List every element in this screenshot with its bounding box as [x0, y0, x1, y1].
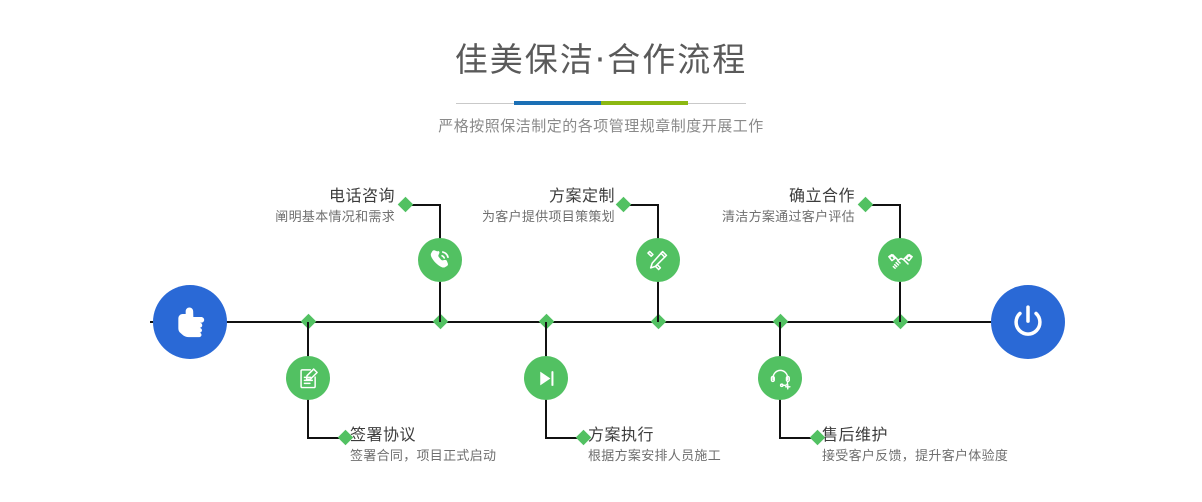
- step-2-icon-node[interactable]: [286, 356, 330, 400]
- flow-start-node[interactable]: [153, 285, 227, 359]
- page-title: 佳美保洁·合作流程: [0, 40, 1202, 80]
- step-3-icon-node[interactable]: [636, 238, 680, 282]
- timeline-axis: [150, 321, 1056, 323]
- step-5-label: 确立合作 清洁方案通过客户评估: [580, 186, 855, 227]
- handshake-icon: [887, 247, 914, 274]
- step-5-icon-node[interactable]: [878, 238, 922, 282]
- divider-segment-green: [601, 101, 688, 105]
- headset-support-icon: [768, 366, 793, 391]
- power-icon: [1007, 301, 1049, 343]
- step-4-icon-node[interactable]: [524, 356, 568, 400]
- step-5-desc: 清洁方案通过客户评估: [580, 209, 855, 227]
- step-3-title: 方案定制: [340, 186, 615, 206]
- pointing-hand-icon: [170, 302, 210, 342]
- cooperation-flow-infographic: 佳美保洁·合作流程 严格按照保洁制定的各项管理规章制度开展工作: [0, 0, 1202, 502]
- divider-segment-blue: [514, 101, 601, 105]
- flow-end-node[interactable]: [991, 285, 1065, 359]
- step-6-desc: 接受客户反馈，提升客户体验度: [822, 448, 1152, 466]
- step-3-desc: 为客户提供项目策策划: [340, 209, 615, 227]
- title-divider: [456, 101, 746, 105]
- step-5-label-marker: [858, 197, 874, 213]
- phone-ring-icon: [427, 247, 453, 273]
- pencil-ruler-icon: [645, 247, 671, 273]
- step-6-icon-node[interactable]: [758, 356, 802, 400]
- step-5-title: 确立合作: [580, 186, 855, 206]
- step-3-label: 方案定制 为客户提供项目策策划: [340, 186, 615, 227]
- step-6-title: 售后维护: [822, 425, 1152, 445]
- step-6-label: 售后维护 接受客户反馈，提升客户体验度: [822, 425, 1152, 466]
- step-1-icon-node[interactable]: [418, 238, 462, 282]
- header: 佳美保洁·合作流程 严格按照保洁制定的各项管理规章制度开展工作: [0, 0, 1202, 136]
- document-pen-icon: [296, 366, 321, 391]
- play-execute-icon: [534, 366, 559, 391]
- page-subtitle: 严格按照保洁制定的各项管理规章制度开展工作: [0, 116, 1202, 136]
